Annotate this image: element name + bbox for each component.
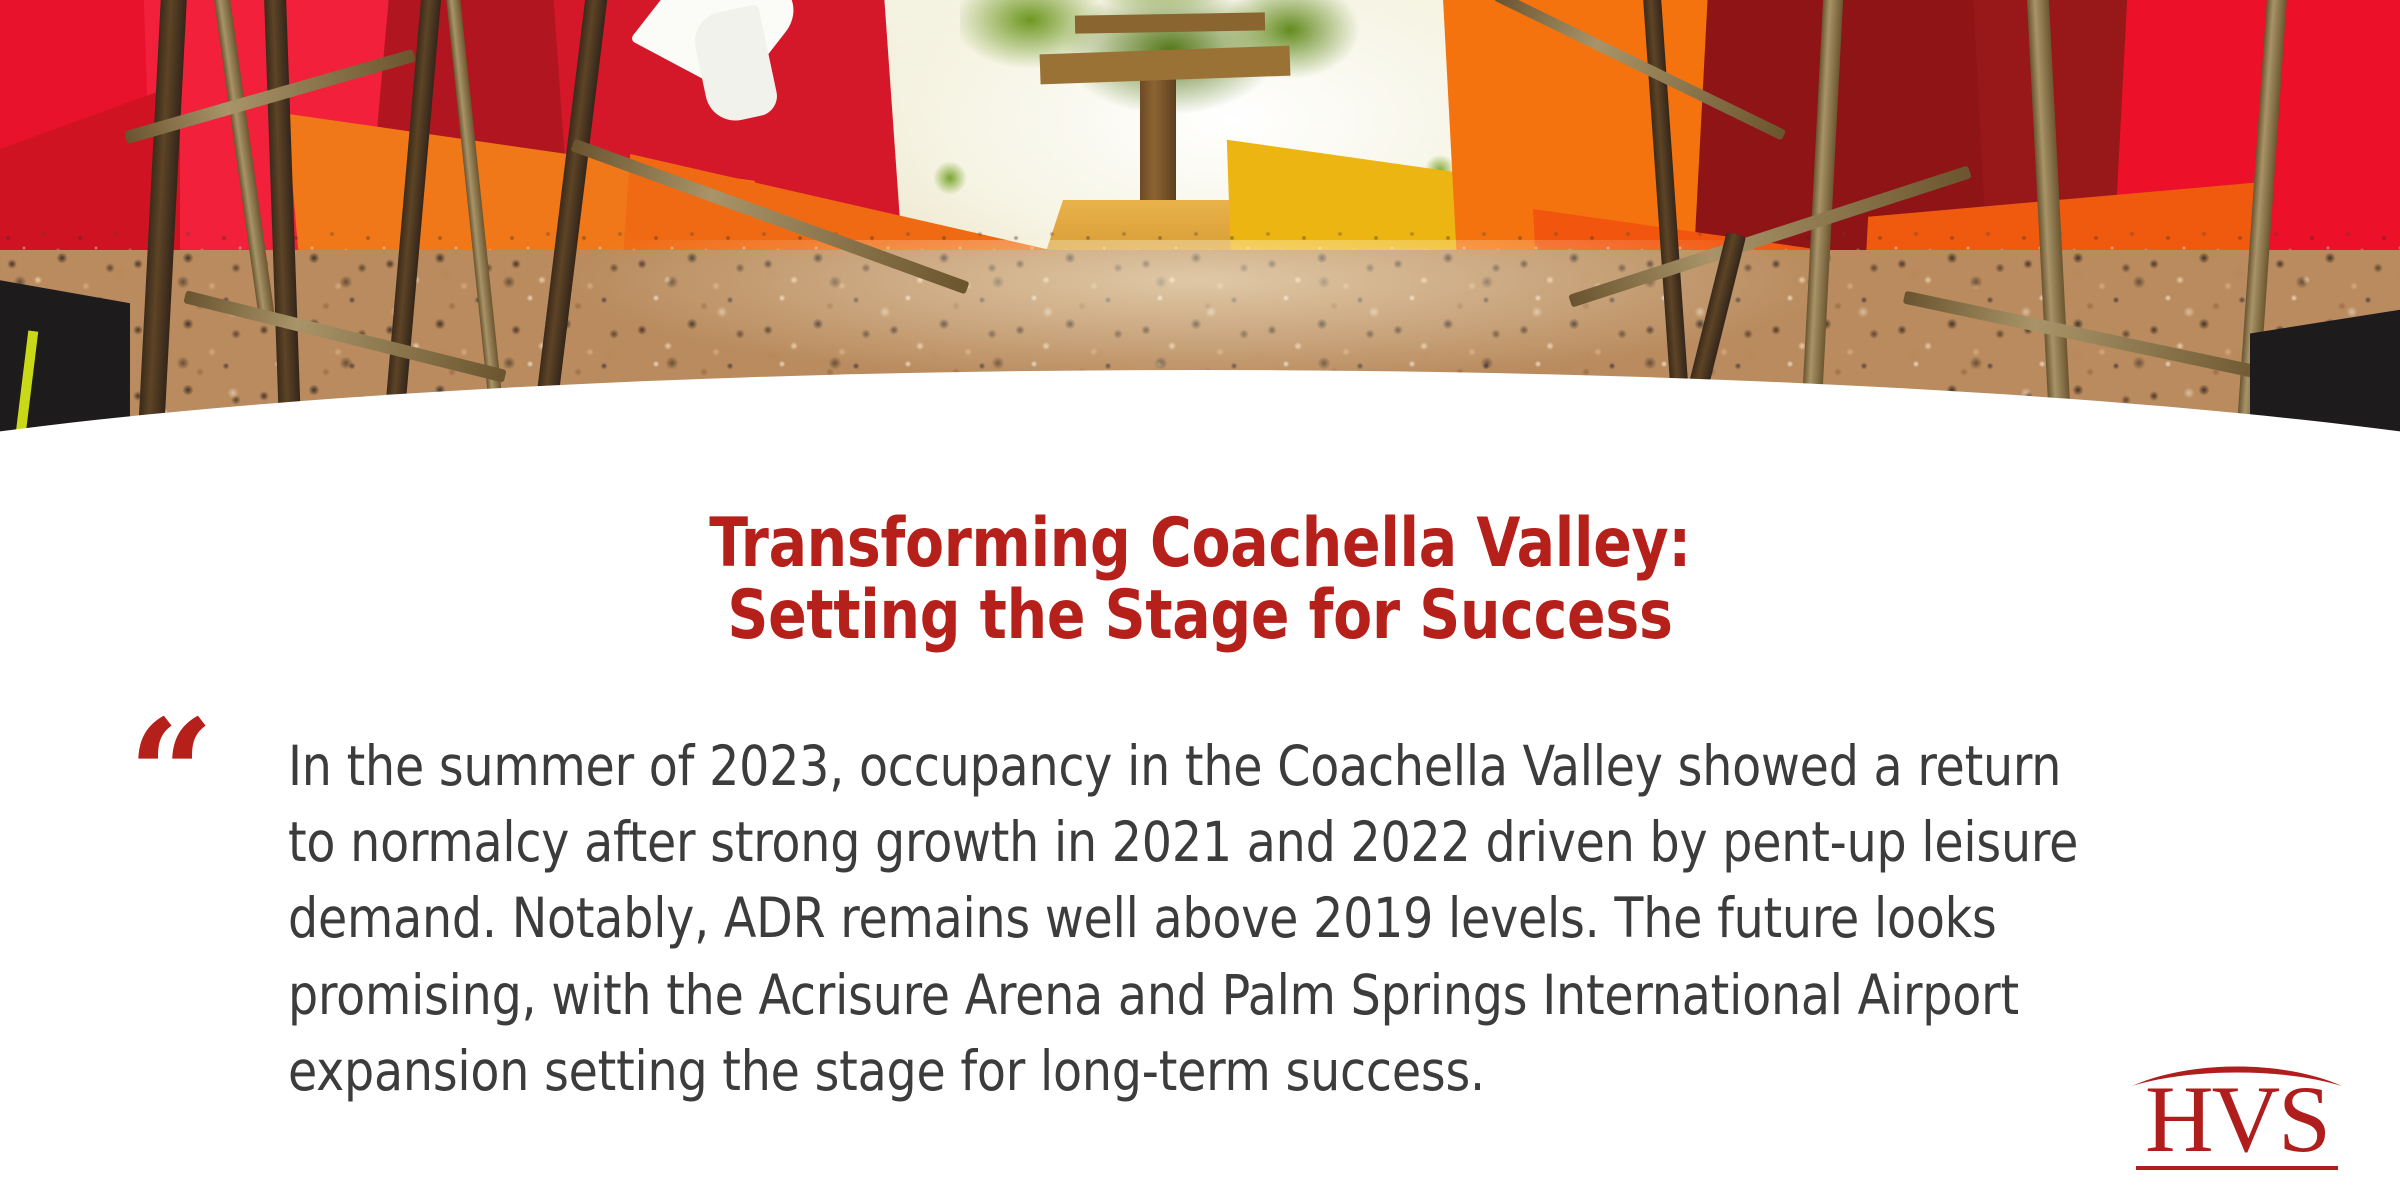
logo-wordmark: HVS bbox=[2122, 1072, 2352, 1167]
pull-quote-text: In the summer of 2023, occupancy in the … bbox=[288, 728, 2083, 1109]
hvs-logo: HVS bbox=[2122, 1048, 2352, 1188]
poster-canvas: Transforming Coachella Valley: Setting t… bbox=[0, 0, 2400, 1200]
logo-underline bbox=[2136, 1166, 2338, 1170]
opening-quotation-mark-icon: “ bbox=[128, 700, 208, 850]
page-title: Transforming Coachella Valley: Setting t… bbox=[84, 508, 2316, 652]
content-layer: Transforming Coachella Valley: Setting t… bbox=[0, 0, 2400, 1200]
